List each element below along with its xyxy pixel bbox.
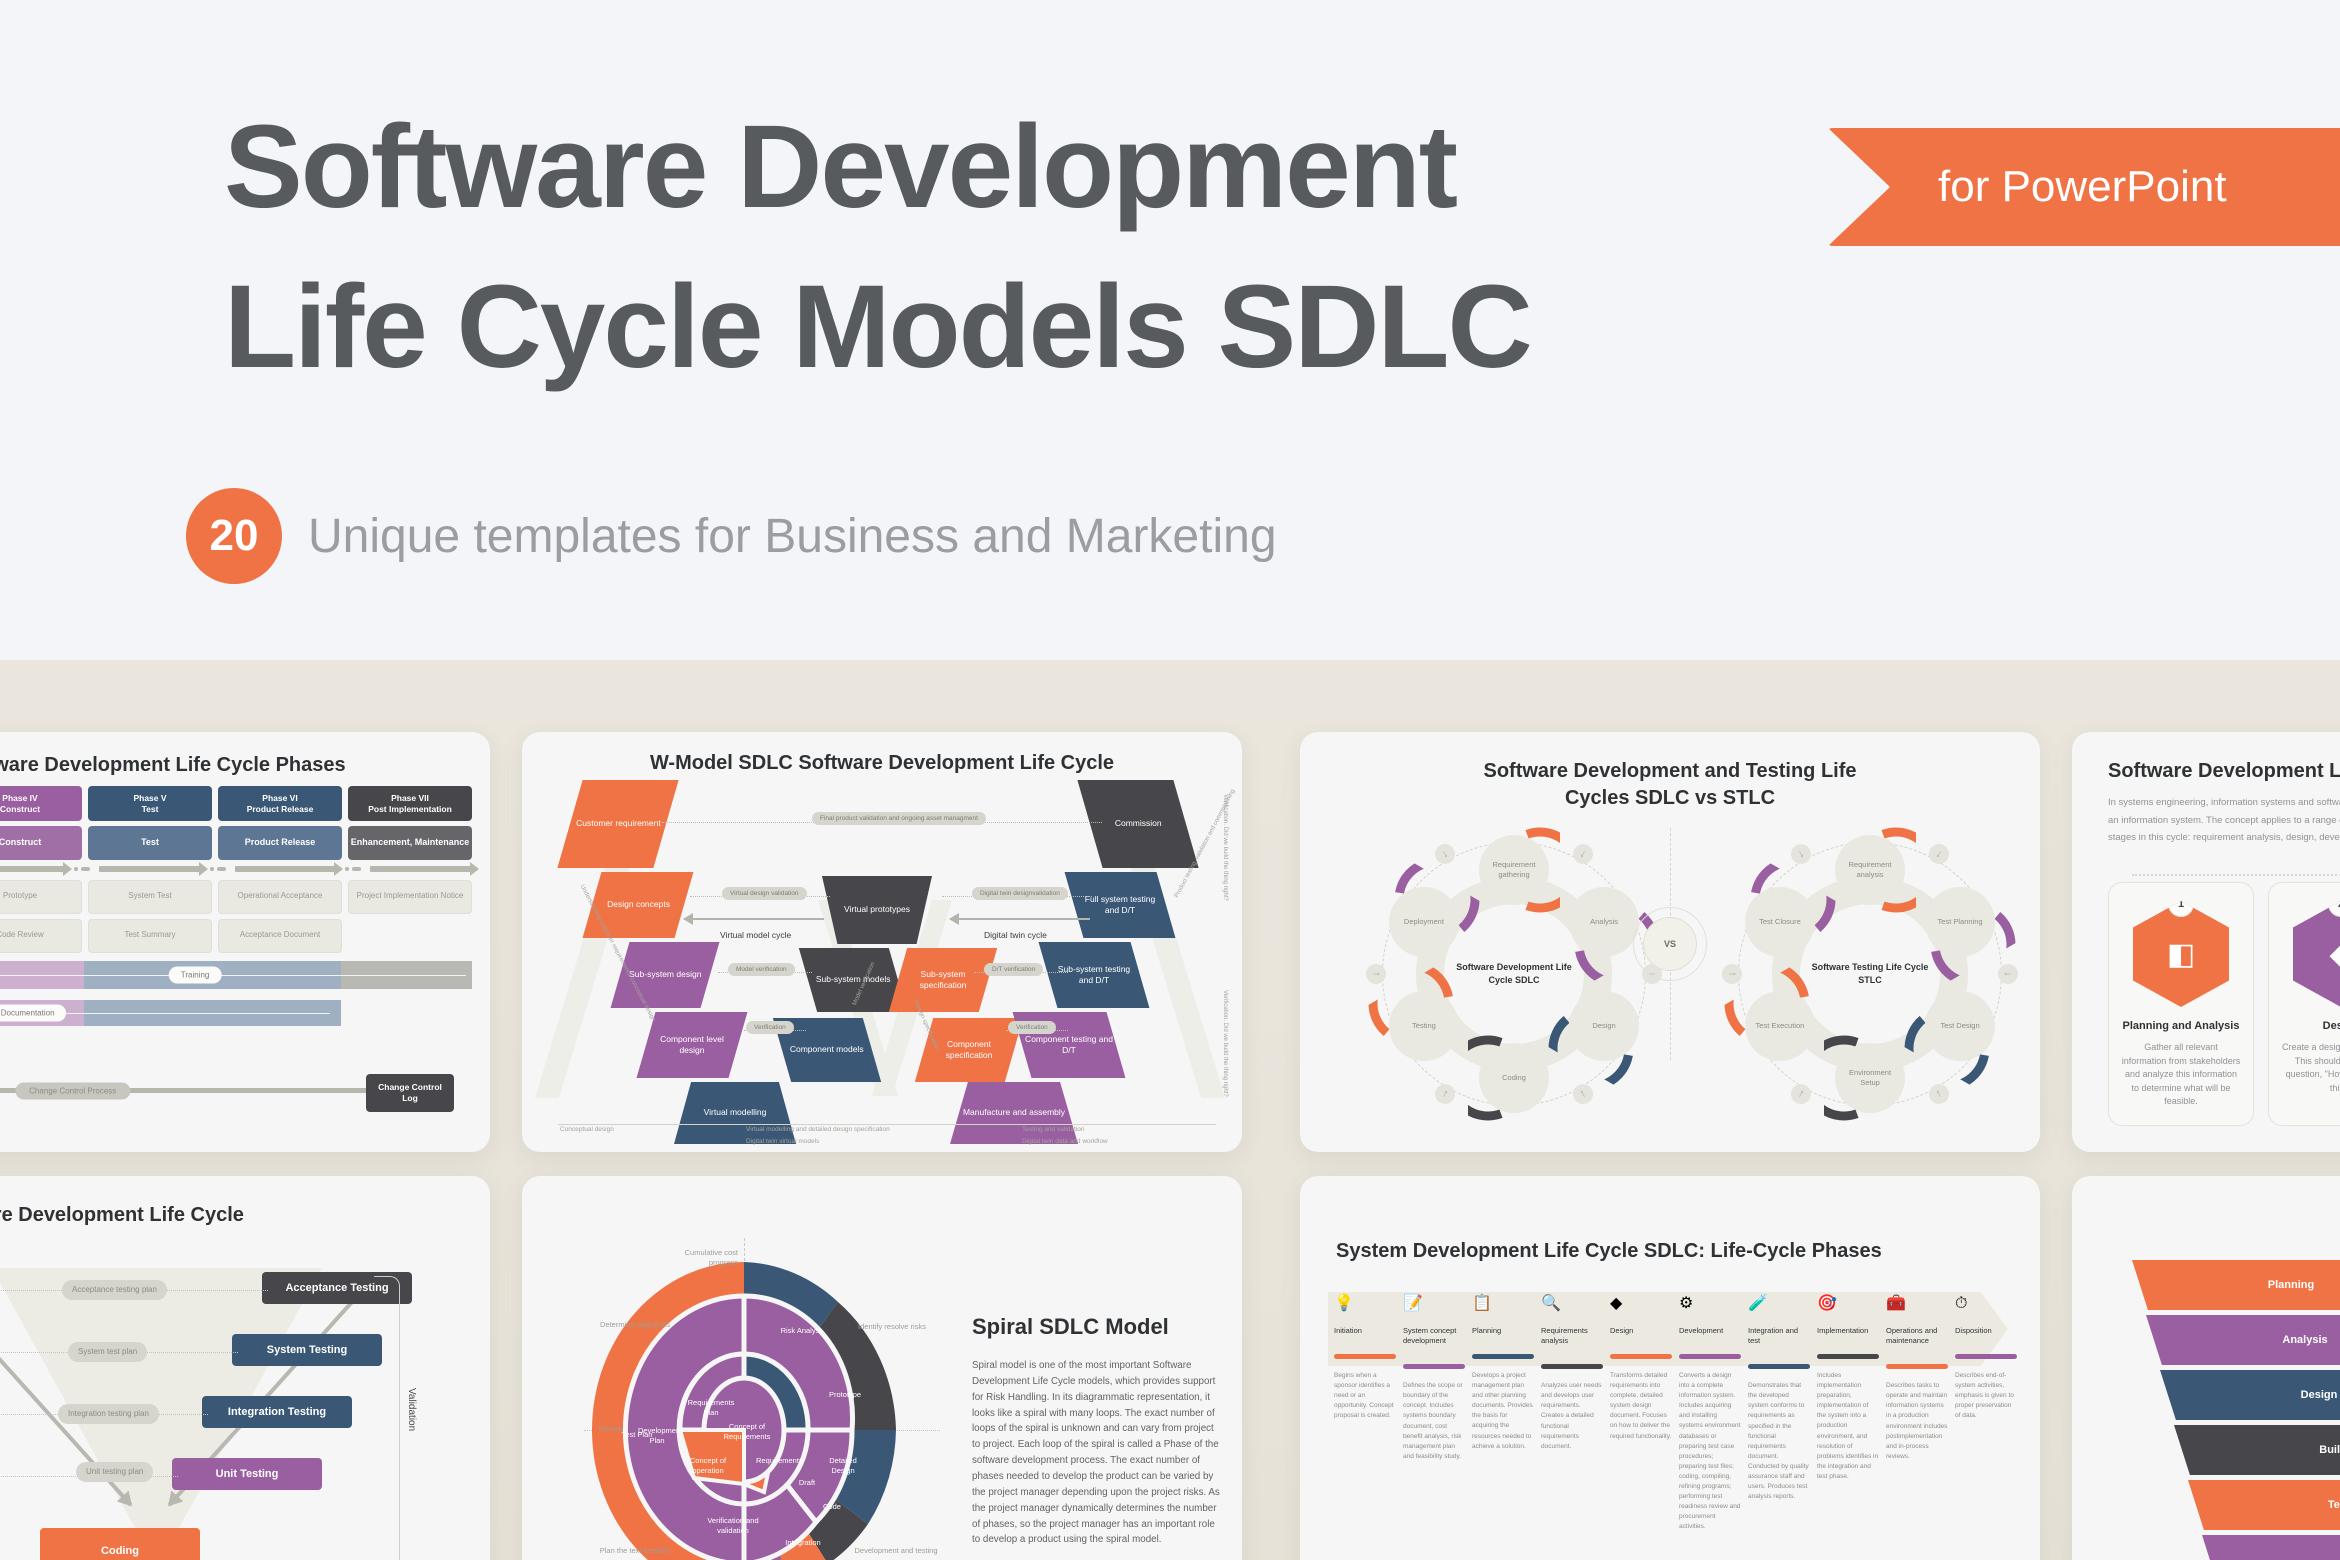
initiation-icon: 💡 [1334,1296,1396,1316]
system-phase-desc: Develops a project management plan and o… [1472,1371,1534,1452]
arrow-icon [99,866,201,872]
page-title-line-1: Software Development [224,108,1784,226]
spiral-segment-label: Draft [790,1478,824,1488]
system-phase-name: Disposition [1955,1326,2017,1336]
system-phase-desc: Converts a design into a complete inform… [1679,1371,1741,1532]
funnel-stage: Planning [2132,1260,2340,1310]
phase-header-row: Phase IIIDesign Phase IVConstruct Phase … [0,786,472,821]
doc-cell: System Test [88,880,212,914]
w-pill: Final product validation and ongoing ass… [812,812,986,825]
stlc-cycle: Software Testing Life Cycle STLC Require… [1720,824,2020,1124]
planning-icon: 📋 [1472,1296,1534,1316]
card-sdlc-phases[interactable]: Software Development Life Cycle Phases P… [0,732,490,1152]
training-label: Training [169,966,222,983]
requirements-analysis-icon: 🔍 [1541,1296,1603,1316]
system-phase-columns: 💡 Initiation Begins when a sponsor ident… [1334,1296,2017,1532]
training-band: Detailed Project Development Training [0,958,472,992]
funnel-stage: Testing [2188,1480,2340,1530]
stage-glyph-icon: ◆ [2329,937,2340,972]
system-phase-desc: Transforms detailed requirements into co… [1610,1371,1672,1441]
w-box: Customer requirement [557,780,678,868]
phase-sub-cell: Construct [0,826,82,859]
cycle-node[interactable]: Environment Setup [1835,1043,1905,1113]
change-control-process-label: Change Control Process [15,1082,130,1099]
card-sdlc-funnel[interactable]: Planning Analysis Design Build for devel… [2072,1176,2340,1560]
system-phase-desc: Defines the scope or boundary of the con… [1403,1381,1465,1462]
w-box: Sub-system testing and D/T [1039,942,1150,1008]
page-title-line-2: Life Cycle Models SDLC [224,268,1784,386]
system-phase-name: Initiation [1334,1326,1396,1336]
development-icon: ⚙ [1679,1296,1741,1316]
funnel-stage: Design [2160,1370,2340,1420]
w-box: Manufacture and assembly [950,1082,1078,1144]
w-pill: D/T verification [984,963,1043,976]
system-phase-rule [1541,1364,1603,1369]
system-phase-column: ⏱ Disposition Describes end-of-system ac… [1955,1296,2017,1532]
w-cycle-label: Virtual model cycle [720,930,791,940]
cycle-node[interactable]: Testing [1389,991,1459,1061]
cycle-node[interactable]: Deployment [1389,887,1459,957]
v-pill: Integration testing plan [58,1404,159,1424]
system-phase-column: ◆ Design Transforms detailed requirement… [1610,1296,1672,1532]
implementation-icon: 🎯 [1817,1296,1879,1316]
subtitle-row: 20 Unique templates for Business and Mar… [186,488,1277,584]
funnel-row: Analysis [2132,1315,2340,1365]
w-footer-label: Digital twin virtual models [746,1138,819,1145]
system-phase-desc: Analyzes user needs and develops user re… [1541,1381,1603,1451]
spiral-segment-label: Concept of operation [678,1456,738,1476]
system-phase-desc: Includes implementation preparation, imp… [1817,1371,1879,1482]
phase-cell: Phase VIProduct Release [218,786,342,821]
w-footer-label: Virtual modelling and detailed design sp… [746,1126,890,1133]
change-control-row: Change Control Process Change Control Lo… [0,1074,472,1108]
w-footer-label: Conceptual design [560,1126,614,1133]
funnel-stage: Build [2174,1425,2340,1475]
card-spiral-title: Spiral SDLC Model [972,1314,1169,1340]
arrow-icon [235,866,337,872]
doc-cell: Acceptance Document [218,919,342,953]
spiral-axis-label: Plan the text iteration [596,1546,674,1556]
w-side-label: Verification. Did we build the thing rig… [1222,794,1228,901]
system-phase-rule [1748,1364,1810,1369]
funnel-row: Deploy After successful testing release … [2132,1535,2340,1560]
disposition-icon: ⏱ [1955,1296,2017,1316]
v-coding-box: Coding [40,1528,200,1560]
w-cycle-label: Digital twin cycle [984,930,1047,940]
doc-cell: Test Summary [88,919,212,953]
page-header: Software Development Life Cycle Models S… [0,0,2340,660]
hex-step-number: 1 [2168,891,2194,917]
funnel-row: Design [2132,1370,2340,1420]
system-phase-rule [1679,1354,1741,1359]
dots-separator-icon [207,867,229,871]
system-phase-name: Integration and test [1748,1326,1810,1346]
system-phase-column: 🎯 Implementation Includes implementation… [1817,1296,1879,1532]
system-phase-desc: Describes tasks to operate and maintain … [1886,1381,1948,1462]
spiral-segment-label: Code [816,1502,848,1512]
funnel-row: Build for development team [2132,1425,2340,1475]
cycle-node[interactable]: Test Execution [1745,991,1815,1061]
arrow-icon [370,866,472,872]
spiral-segment-label: Verification and validation [692,1516,774,1536]
card-sdlc-hex-title: Software Development Life Cycle [2108,760,2340,783]
phase-cell: Phase VTest [88,786,212,821]
integration-and-test-icon: 🧪 [1748,1296,1810,1316]
phase-sub-cell: Test [88,826,212,859]
spiral-segment-label: Requirements Plan [680,1398,742,1418]
spiral-axis-label: Determine objectives [596,1320,674,1330]
card-v-model-title: V-Model Software Development Life Cycle [0,1204,244,1227]
doc-cell: Code Review [0,919,82,953]
hex-stage-track: 1 ◧ Planning and Analysis Gather all rel… [2108,882,2340,1126]
operations-and-maintenance-icon: 🧰 [1886,1296,1948,1316]
system-phase-name: Operations and maintenance [1886,1326,1948,1346]
w-box: Commission [1077,780,1198,868]
v-pill: Unit testing plan [76,1462,153,1482]
system-phase-column: 💡 Initiation Begins when a sponsor ident… [1334,1296,1396,1532]
system-phase-rule [1886,1364,1948,1369]
template-count-badge: 20 [186,488,282,584]
card-w-model[interactable]: W-Model SDLC Software Development Life C… [522,732,1242,1152]
w-box: Component level design [637,1012,748,1078]
spiral-segment-label: Concept of Requirements [714,1422,780,1442]
system-phase-desc: Demonstrates that the developed system c… [1748,1381,1810,1502]
for-powerpoint-ribbon-badge: for PowerPoint [1828,128,2340,246]
w-box: Sub-system specification [889,948,997,1012]
v-right-box: Integration Testing [202,1396,352,1428]
card-sdlc-hex-stages[interactable]: Software Development Life Cycle In syste… [2072,732,2340,1152]
arrow-icon [0,866,65,872]
documentation-label: Documentation [0,1004,67,1021]
w-box: Full system testing and D/T [1065,872,1176,938]
v-pill: System test plan [68,1342,147,1362]
system-phase-column: 📋 Planning Develops a project management… [1472,1296,1534,1532]
hex-stage-desc: Gather all relevant information from sta… [2121,1041,2241,1109]
spiral-segment-label: Prototype [814,1390,876,1400]
system-phase-name: Implementation [1817,1326,1879,1336]
cycle-step-arrow-icon: ↓ [1722,964,1742,984]
spiral-rings-svg [578,1234,958,1560]
sdlc-cycle: Software Development Life Cycle SDLC Req… [1364,824,1664,1124]
doc-cell: Operational Acceptance [218,880,342,914]
doc-cell: Project Implementation Notice [348,880,472,914]
system-phase-name: Requirements analysis [1541,1326,1603,1346]
w-side-label: Verification. Did we build the thing rig… [1222,990,1228,1097]
system-phase-column: 🔍 Requirements analysis Analyzes user ne… [1541,1296,1603,1532]
spiral-segment-label: Requirements [756,1456,800,1466]
card-sdlc-vs-stlc-title: Software Development and Testing Life Cy… [1300,758,2040,812]
funnel-row: Testing Q&A team tests the software and … [2132,1480,2340,1530]
doc-row: Internal and External Prototype System T… [0,880,472,914]
w-pill: Virtual design validation [722,887,807,900]
w-pill: Model verification [728,963,795,976]
phase-arrow-row [0,866,472,872]
w-box: Virtual prototypes [822,876,932,944]
spiral-segment-label: Integration [778,1538,828,1548]
card-sdlc-hex-paragraph: In systems engineering, information syst… [2108,794,2340,847]
cycle-node[interactable]: Test Closure [1745,887,1815,957]
system-phase-rule [1403,1364,1465,1369]
system-phase-column: 🧰 Operations and maintenance Describes t… [1886,1296,1948,1532]
hex-step-number: 2 [2328,891,2340,917]
subtitle-text: Unique templates for Business and Market… [308,509,1277,564]
w-footer-label: Digital twin data and workflow [1022,1138,1108,1145]
w-pill: Verification [1008,1021,1056,1034]
w-box: Component specification [915,1018,1023,1082]
card-v-model[interactable]: V-Model Software Development Life Cycle … [0,1176,490,1560]
dots-separator-icon [71,867,93,871]
system-phase-rule [1610,1354,1672,1359]
validation-label: Validation [406,1388,417,1431]
phase-cell: Phase VIIPost Implementation [348,786,472,821]
hex-stage-name: Design [2323,1019,2340,1033]
hexagon-icon: 1 ◧ [2133,901,2229,1007]
phase-sub-cell: Enhancement, Maintenance [348,826,472,859]
cycle-node[interactable]: Analysis [1569,887,1639,957]
w-pill: Digital twin designvalidation [972,887,1068,900]
card-w-model-title: W-Model SDLC Software Development Life C… [522,752,1242,775]
cycle-step-arrow-icon: ↓ [1366,964,1386,984]
card-sdlc-phases-title: Software Development Life Cycle Phases [0,754,490,777]
system-phase-name: Development [1679,1326,1741,1336]
system-phase-name: Design [1610,1326,1672,1336]
v-right-box: System Testing [232,1334,382,1366]
system-phase-rule [1817,1354,1879,1359]
design-icon: ◆ [1610,1296,1672,1316]
ribbon-label: for PowerPoint [1938,162,2227,212]
dots-separator-icon [342,867,364,871]
system-phase-rule [1955,1354,2017,1359]
w-box: Design concepts [583,872,694,938]
w-footer-label: Testing and validation [1022,1126,1085,1133]
funnel-chart: Planning Analysis Design Build for devel… [2132,1260,2340,1560]
w-box: Virtual modelling [674,1082,796,1144]
system-phase-column: 📝 System concept development Defines the… [1403,1296,1465,1532]
cycle-node[interactable]: Design [1569,991,1639,1061]
hex-stage-card[interactable]: 2 ◆ Design Create a design specification… [2268,882,2340,1126]
system-concept-icon: 📝 [1403,1296,1465,1316]
card-system-sdlc-title: System Development Life Cycle SDLC: Life… [1336,1240,1882,1263]
phase-cell: Phase IVConstruct [0,786,82,821]
card-sdlc-vs-stlc[interactable]: Software Development and Testing Life Cy… [1300,732,2040,1152]
card-spiral-model[interactable]: Cumulative cost progress Determine objec… [522,1176,1242,1560]
page-title: Software Development Life Cycle Models S… [224,108,1784,386]
hex-connector-line [2132,874,2340,876]
v-right-box: Unit Testing [172,1458,322,1490]
cycle-node[interactable]: Requirement analysis [1835,835,1905,905]
cycle-step-arrow-icon: ↓ [1998,964,2018,984]
hexagon-icon: 2 ◆ [2293,901,2340,1007]
funnel-stage: Analysis [2146,1315,2340,1365]
spiral-axis-label: Identify resolve risks [852,1322,932,1332]
system-phase-desc: Begins when a sponsor identifies a need … [1334,1371,1396,1421]
system-phase-rule [1334,1354,1396,1359]
spiral-axis-label: Development and testing [854,1546,938,1556]
vs-label: VS [1643,917,1697,971]
funnel-stage: Deploy [2202,1535,2340,1560]
stage-glyph-icon: ◧ [2167,937,2195,972]
spiral-segment-label: Development Plan [638,1426,676,1446]
doc-row: Design Review Code Review Test Summary A… [0,919,472,953]
spiral-segment-label: Detailed Design [820,1456,866,1476]
phase-sub-cell: Product Release [218,826,342,859]
spiral-chart: Cumulative cost progress Determine objec… [578,1234,958,1560]
phase-sub-row: Design Construct Test Product Release En… [0,826,472,859]
documentation-band: Documentation [0,998,472,1028]
system-phase-name: Planning [1472,1326,1534,1336]
spiral-segment-label: Risk Analyst [766,1326,836,1336]
v-pill: Acceptance testing plan [62,1280,167,1300]
system-phase-rule [1472,1354,1534,1359]
w-pill: Verification [746,1021,794,1034]
doc-cell-empty [348,919,472,953]
card-spiral-body: Spiral model is one of the most importan… [972,1358,1220,1548]
hex-stage-name: Planning and Analysis [2123,1019,2240,1033]
funnel-row: Planning [2132,1260,2340,1310]
template-gallery: Software Development Life Cycle Phases P… [0,660,2340,1560]
vs-badge: VS [1633,907,1707,981]
hex-stage-card[interactable]: 1 ◧ Planning and Analysis Gather all rel… [2108,882,2254,1126]
system-phase-column: 🧪 Integration and test Demonstrates that… [1748,1296,1810,1532]
spiral-axis-label: Cumulative cost progress [664,1248,738,1268]
cycle-node[interactable]: Test Planning [1925,887,1995,957]
system-phase-desc: Describes end-of-system activities, emph… [1955,1371,2017,1421]
system-phase-column: ⚙ Development Converts a design into a c… [1679,1296,1741,1532]
system-phase-name: System concept development [1403,1326,1465,1346]
card-system-sdlc-phases[interactable]: System Development Life Cycle SDLC: Life… [1300,1176,2040,1560]
phase-grid: Phase IIIDesign Phase IVConstruct Phase … [0,786,490,1108]
doc-cell: Prototype [0,880,82,914]
cycle-node[interactable]: Requirement gathering [1479,835,1549,905]
cycle-node[interactable]: Coding [1479,1043,1549,1113]
change-control-log-box: Change Control Log [366,1074,454,1112]
cycle-node[interactable]: Test Design [1925,991,1995,1061]
hex-stage-desc: Create a design specification. This shou… [2281,1041,2340,1095]
